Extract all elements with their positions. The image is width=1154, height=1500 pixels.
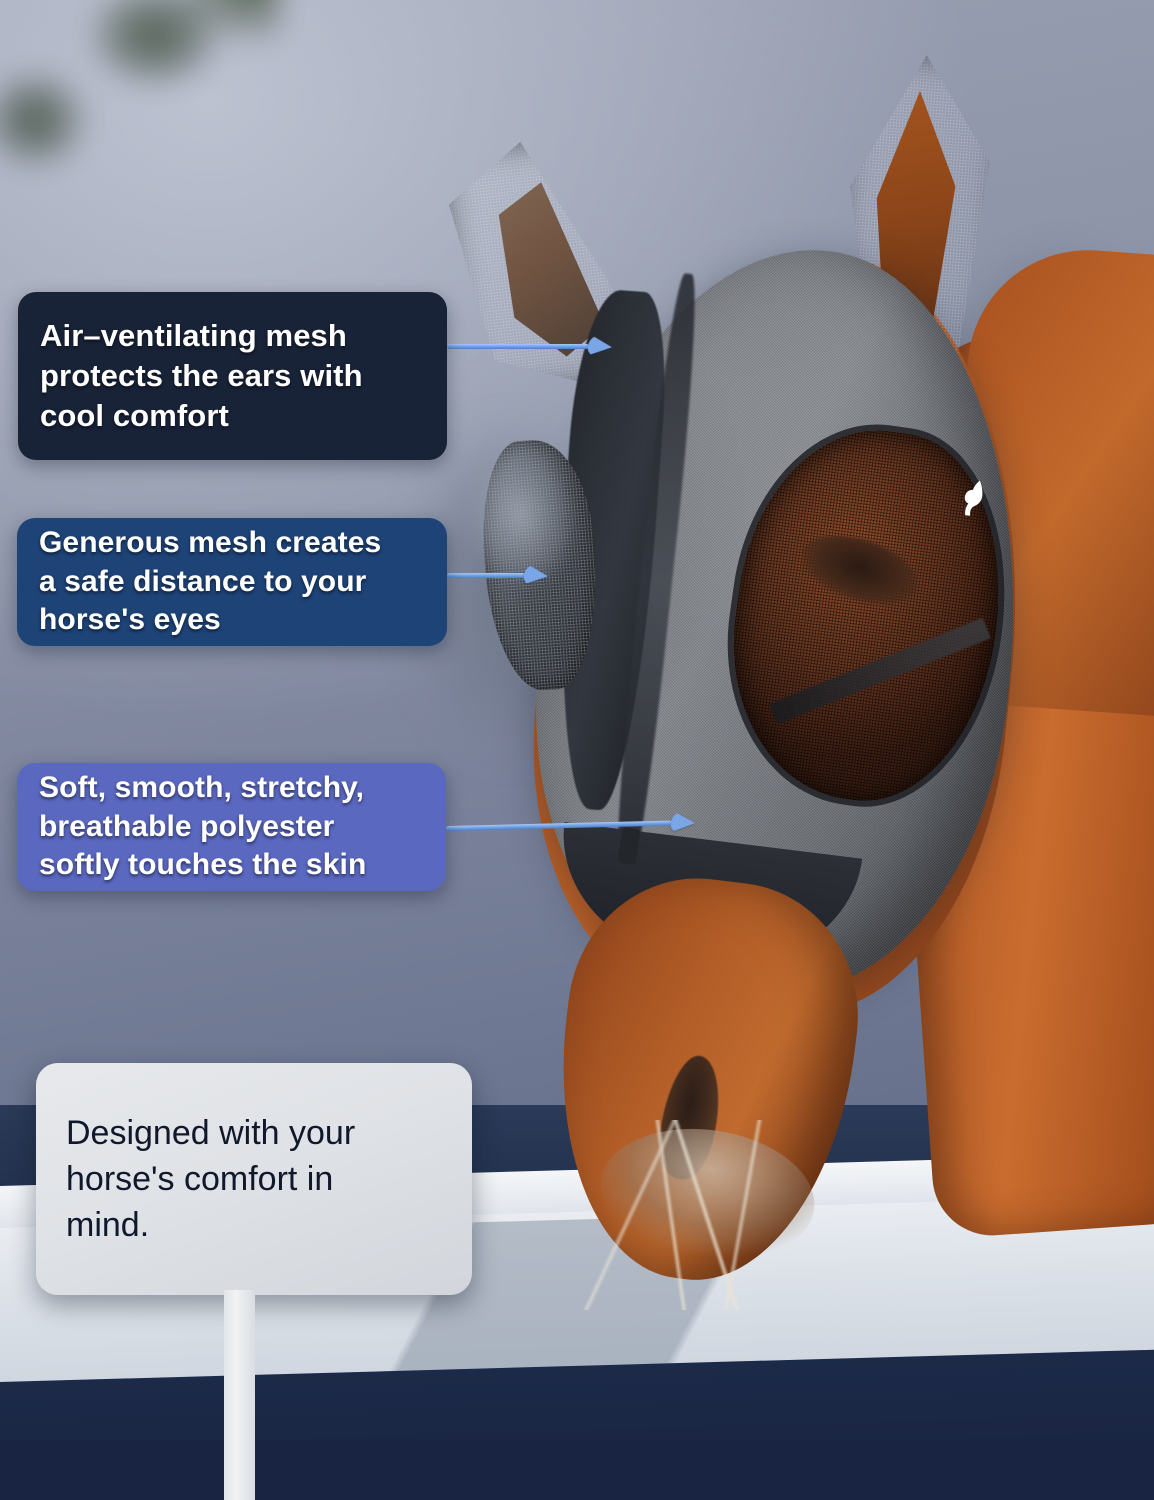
callout-1-text: Air–ventilating mesh protects the ears w… [18, 316, 385, 437]
callout-soft-polyester[interactable]: Soft, smooth, stretchy, breathable polye… [17, 763, 446, 891]
callout-generous-mesh[interactable]: Generous mesh creates a safe distance to… [17, 518, 447, 646]
callout-air-ventilating-mesh[interactable]: Air–ventilating mesh protects the ears w… [18, 292, 447, 460]
eye-mesh-panel [713, 414, 1022, 817]
sign-post [224, 1290, 255, 1500]
sign-text: Designed with your horse's comfort in mi… [36, 1110, 385, 1249]
bottom-navy-fill [0, 1440, 1154, 1500]
product-infographic: Air–ventilating mesh protects the ears w… [0, 0, 1154, 1500]
callout-3-text: Soft, smooth, stretchy, breathable polye… [17, 769, 388, 884]
designed-with-comfort-sign[interactable]: Designed with your horse's comfort in mi… [36, 1063, 472, 1295]
callout-2-text: Generous mesh creates a safe distance to… [17, 524, 403, 639]
horse-head-logo-icon [958, 477, 988, 519]
